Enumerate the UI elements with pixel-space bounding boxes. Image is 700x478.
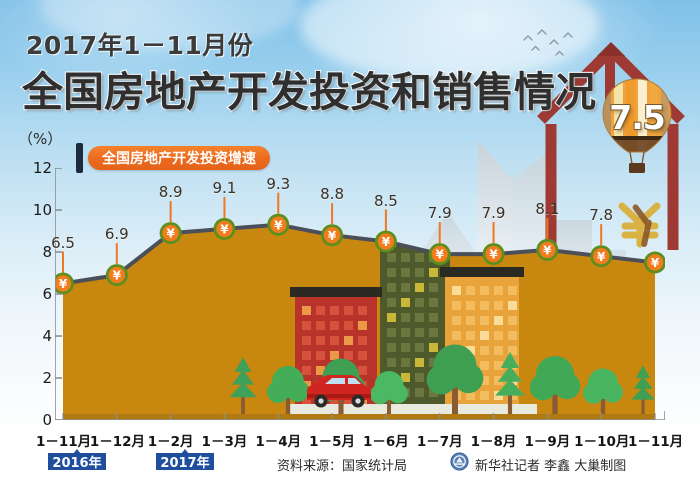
year-badge-2017-label: 2017年 [160,452,209,471]
svg-text:¥: ¥ [274,218,283,232]
page-subtitle: 2017年1－11月份 [26,26,253,62]
data-point-marker: ¥ [267,214,289,236]
x-axis-label: 1－12月 [90,430,144,450]
y-axis-tick: 2 [20,369,52,387]
year-badge-2016-label: 2016年 [52,452,101,471]
x-axis-label: 1－10月 [574,430,628,450]
x-axis-label: 1－11月 [628,430,682,450]
data-point-marker: ¥ [321,224,343,246]
data-label: 9.1 [204,179,244,197]
road [55,414,665,420]
gold-yuan-symbol [612,198,668,250]
data-point-marker: ¥ [590,245,612,267]
area-chart: ¥¥¥¥¥¥¥¥¥¥¥¥ [55,168,665,420]
data-point-marker: ¥ [213,218,235,240]
svg-text:¥: ¥ [59,277,68,291]
y-axis-tick: 10 [20,201,52,219]
data-point-marker: ¥ [160,222,182,244]
data-point-marker: ¥ [483,243,505,265]
svg-text:¥: ¥ [651,256,660,270]
legend-series-investment-growth: 全国房地产开发投资增速 [88,146,270,170]
x-axis-label: 1－3月 [197,430,251,450]
svg-text:¥: ¥ [436,248,445,262]
data-label: 8.8 [312,185,352,203]
data-label: 8.9 [151,183,191,201]
svg-text:¥: ¥ [220,223,229,237]
svg-text:¥: ¥ [113,269,122,283]
chart-plot-area: ¥¥¥¥¥¥¥¥¥¥¥¥ [55,168,665,420]
x-axis-label: 1－9月 [520,430,574,450]
data-label: 9.3 [258,175,298,193]
data-label: 6.5 [43,234,83,252]
svg-text:¥: ¥ [543,244,552,258]
data-point-marker: ¥ [644,252,665,274]
data-label: 7.9 [474,204,514,222]
svg-text:¥: ¥ [597,250,606,264]
data-label: 6.9 [97,225,137,243]
y-axis-tick: 12 [20,159,52,177]
source-note: 资料来源：国家统计局 [277,455,407,474]
data-label: 8.1 [527,200,567,218]
y-axis-tick: 6 [20,285,52,303]
data-point-marker: ¥ [375,231,397,253]
svg-text:¥: ¥ [489,248,498,262]
xinhua-logo-icon [450,452,469,471]
balloon-value: 7.5 [600,98,674,137]
x-axis-label: 1－2月 [144,430,198,450]
data-label: 7.9 [420,204,460,222]
y-axis-tick: 0 [20,411,52,429]
data-point-marker: ¥ [429,243,451,265]
infographic-root: 2017年1－11月份 全国房地产开发投资和销售情况 （%） 全国房地产开发投资… [0,0,700,478]
credit-note: 新华社记者 李鑫 大巢制图 [475,455,626,474]
data-point-marker: ¥ [536,239,558,261]
x-axis-label: 1－5月 [305,430,359,450]
svg-text:¥: ¥ [382,235,391,249]
x-axis-label: 1－8月 [467,430,521,450]
page-title: 全国房地产开发投资和销售情况 [22,58,596,118]
y-axis-tick: 4 [20,327,52,345]
data-point-marker: ¥ [106,264,128,286]
year-badge-2017: 2017年 [156,453,214,470]
x-axis-label: 1－11月 [36,430,90,450]
x-axis-label: 1－6月 [359,430,413,450]
svg-text:¥: ¥ [328,229,337,243]
x-axis-label: 1－4月 [251,430,305,450]
svg-text:¥: ¥ [166,227,175,241]
year-badge-2016: 2016年 [48,453,106,470]
data-label: 8.5 [366,192,406,210]
y-axis-unit-label: （%） [18,128,62,149]
legend-label: 全国房地产开发投资增速 [102,148,256,168]
x-axis-label: 1－7月 [413,430,467,450]
